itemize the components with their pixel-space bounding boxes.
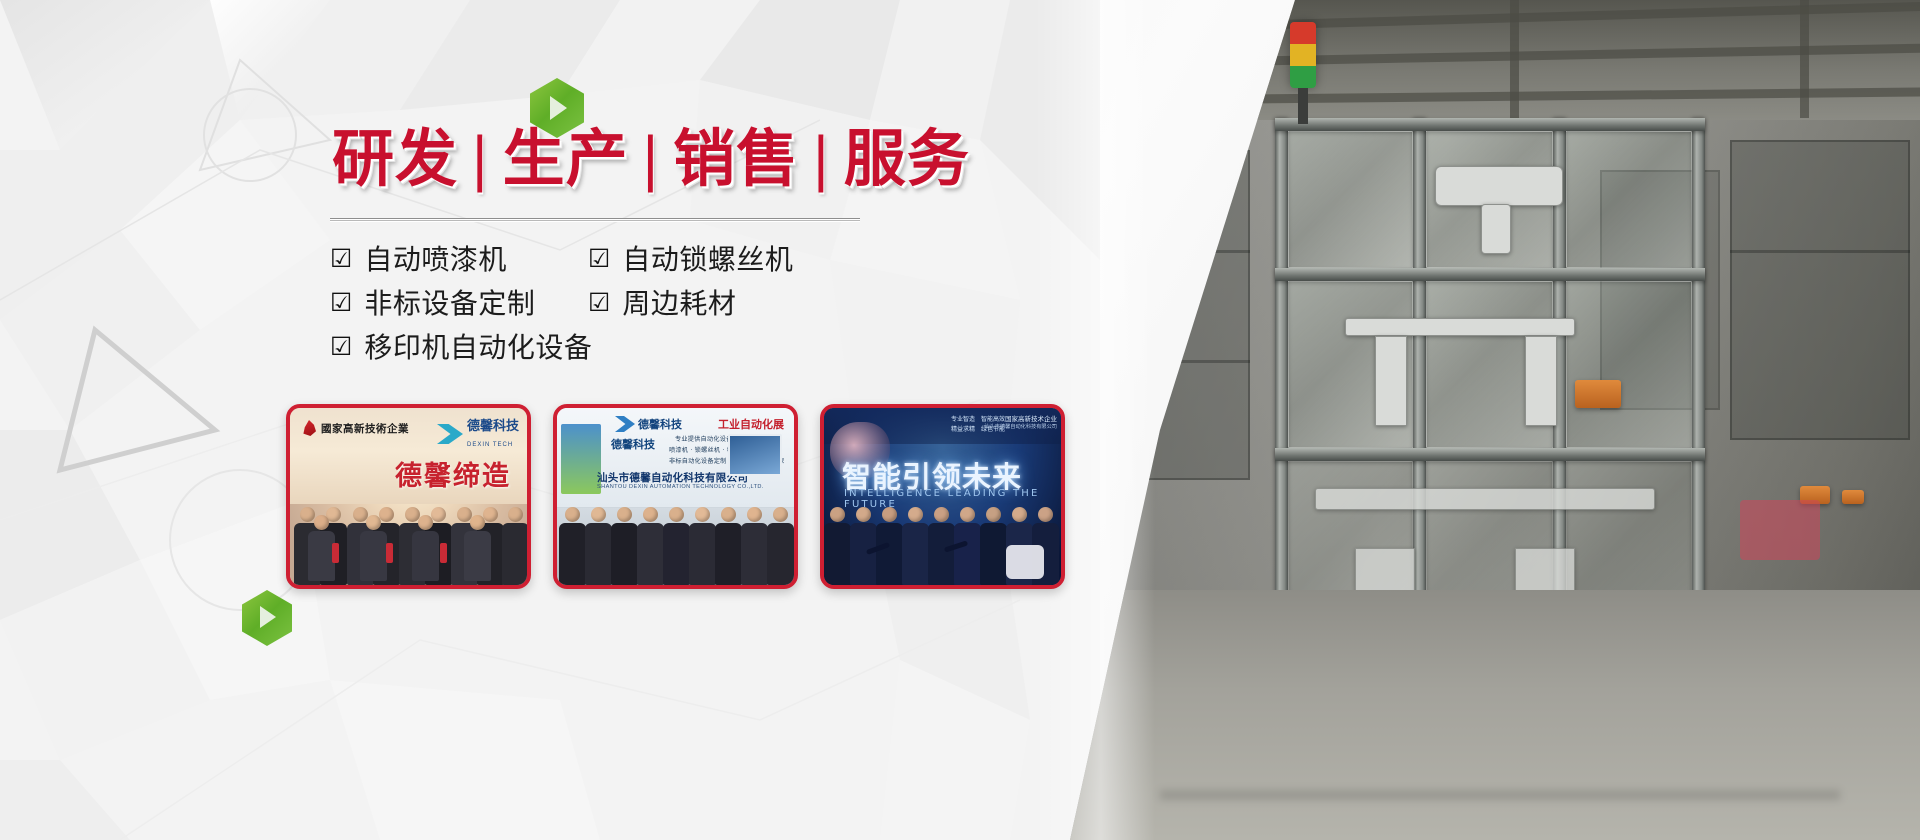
headline-word-3: 销售 [671, 128, 801, 190]
card3-tag-3: 精益求精 [951, 424, 975, 433]
dexin-logo-cn: 德馨科技 [467, 419, 519, 434]
green-hexagon-play-icon-bottom [242, 590, 292, 646]
booth-side-banner [561, 424, 601, 494]
feature-label: 自动喷漆机 [364, 238, 507, 278]
card1-script-text: 德馨缔造 [395, 454, 511, 493]
group-photo-people [557, 490, 794, 585]
dexin-logo: 德馨科技 DEXIN TECH [437, 418, 519, 450]
dexin-x-mark-icon [437, 424, 463, 444]
dexin-x-mark-icon [615, 416, 635, 432]
headline-word-1: 研发 [330, 128, 460, 190]
headline-divider [330, 218, 860, 222]
feature-label: 自动锁螺丝机 [622, 238, 793, 278]
feature-label: 移印机自动化设备 [364, 326, 592, 366]
hi-tech-enterprise-label: 國家高新技術企業 [321, 421, 409, 436]
hi-tech-enterprise-badge: 國家高新技術企業 [302, 420, 409, 436]
checkbox-checked-icon: ☑ [330, 334, 352, 359]
checkbox-checked-icon: ☑ [330, 290, 352, 315]
card-national-hi-tech-enterprise[interactable]: 國家高新技術企業 德馨科技 DEXIN TECH 德馨缔造 [286, 404, 531, 589]
booth-logo: 德馨科技 [615, 416, 682, 432]
booth-company-cn: 汕头市德馨自动化科技有限公司 [597, 470, 748, 485]
headline-separator-2: | [631, 130, 672, 188]
feature-label: 周边耗材 [622, 282, 736, 322]
feature-checklist: ☑ 自动喷漆机 ☑ 自动锁螺丝机 ☑ 非标设备定制 ☑ 周边耗材 ☑ 移印机自动… [330, 236, 870, 368]
card-intelligence-leading-future[interactable]: 专业智造 智能高效 精益求精 绿色节能 国家高新技术企业 汕头市德馨自动化科技有… [820, 404, 1065, 589]
feature-item-4: ☑ 周边耗材 [588, 280, 846, 324]
factory-automation-machine-photo [1040, 0, 1920, 840]
headline-word-4: 服务 [842, 128, 972, 190]
dexin-logo-en: DEXIN TECH [467, 442, 513, 448]
stack-light-tower [1290, 22, 1316, 88]
checkbox-checked-icon: ☑ [588, 290, 610, 315]
card3-award-block: 国家高新技术企业 汕头市德馨自动化科技有限公司 [984, 413, 1057, 430]
group-photo-people [290, 490, 527, 585]
booth-display-screen [728, 434, 782, 476]
feature-item-3: ☑ 非标设备定制 [330, 280, 588, 324]
booth-logo-cn: 德馨科技 [638, 416, 682, 432]
card3-tag-1: 专业智造 [951, 414, 975, 423]
booth-brand: 德馨科技 [611, 436, 655, 452]
booth-red-headline: 工业自动化展 [718, 416, 784, 432]
checkbox-checked-icon: ☑ [588, 246, 610, 271]
card-exhibition-booth[interactable]: 德馨科技 工业自动化展 德馨科技 专业提供自动化设备解决方案 喷漆机 · 锁螺丝… [553, 404, 798, 589]
feature-item-2: ☑ 自动锁螺丝机 [588, 236, 846, 280]
headline-separator-3: | [801, 130, 842, 188]
card3-award-line-1: 国家高新技术企业 [984, 413, 1057, 423]
page-title: 研发 | 生产 | 销售 | 服务 [330, 128, 972, 190]
checkbox-checked-icon: ☑ [330, 246, 352, 271]
headline-word-2: 生产 [501, 128, 631, 190]
photo-card-row: 國家高新技術企業 德馨科技 DEXIN TECH 德馨缔造 [286, 404, 1065, 589]
feature-item-1: ☑ 自动喷漆机 [330, 236, 588, 280]
flame-icon [302, 420, 316, 436]
feature-item-5: ☑ 移印机自动化设备 [330, 324, 588, 368]
headline-separator-1: | [460, 130, 501, 188]
feature-label: 非标设备定制 [364, 282, 535, 322]
card3-award-line-2: 汕头市德馨自动化科技有限公司 [984, 423, 1057, 430]
hero-banner: 研发 | 生产 | 销售 | 服务 ☑ 自动喷漆机 ☑ 自动锁螺丝机 ☑ 非标设… [0, 0, 1920, 840]
